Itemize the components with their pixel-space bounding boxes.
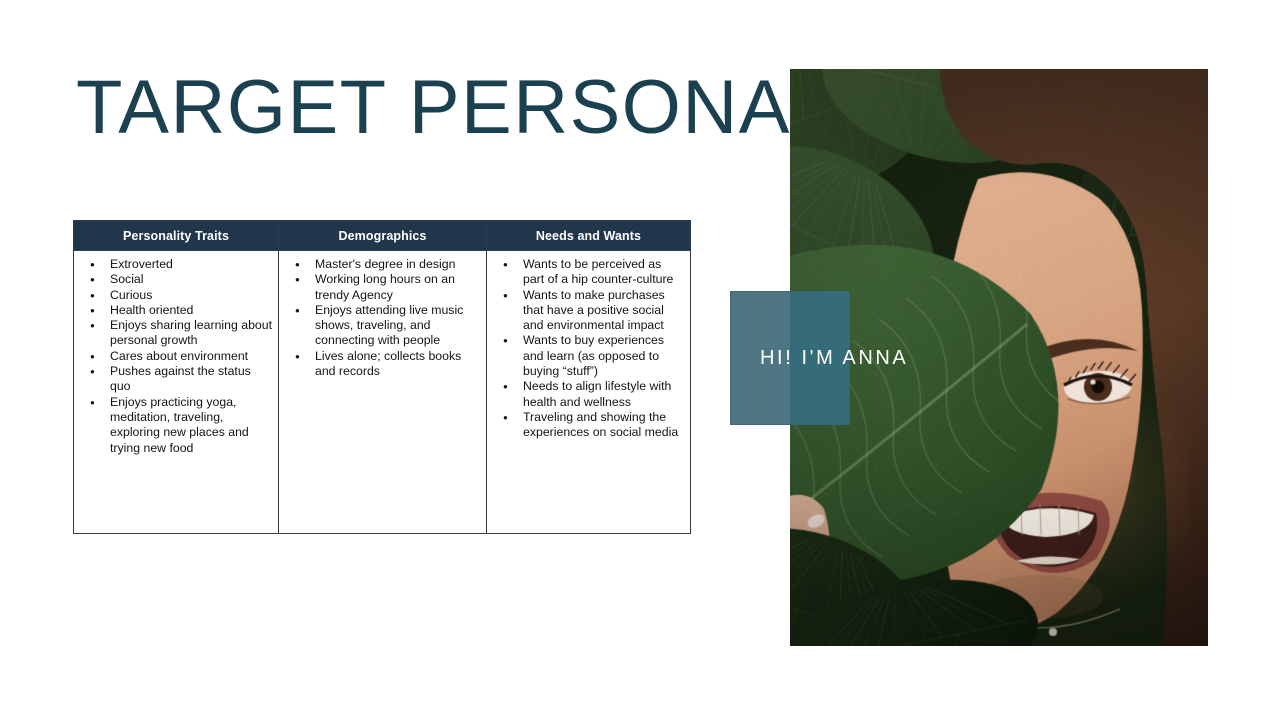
list-item: Enjoys sharing learning about personal g…: [106, 318, 272, 349]
list-item: Working long hours on an trendy Agency: [311, 272, 480, 303]
list-item: Social: [106, 272, 272, 287]
column-header-personality-traits: Personality Traits: [74, 221, 279, 251]
list-item: Traveling and showing the experiences on…: [519, 410, 684, 441]
list-item: Lives alone; collects books and records: [311, 349, 480, 380]
column-header-needs-and-wants: Needs and Wants: [487, 221, 691, 251]
list-item: Wants to buy experiences and learn (as o…: [519, 333, 684, 379]
slide-canvas: TARGET PERSONA Personality Traits Demogr…: [0, 0, 1280, 720]
list-item: Health oriented: [106, 303, 272, 318]
cell-personality-traits: Extroverted Social Curious Health orient…: [74, 251, 279, 534]
list-item: Enjoys practicing yoga, meditation, trav…: [106, 395, 272, 456]
page-title: TARGET PERSONA: [76, 66, 791, 150]
table-header-row: Personality Traits Demographics Needs an…: [74, 221, 691, 251]
persona-table: Personality Traits Demographics Needs an…: [73, 220, 691, 534]
list-item: Curious: [106, 288, 272, 303]
table-row: Extroverted Social Curious Health orient…: [74, 251, 691, 534]
anna-caption-label: HI! I'M ANNA: [730, 346, 1160, 370]
list-item: Enjoys attending live music shows, trave…: [311, 303, 480, 349]
list-item: Master's degree in design: [311, 257, 480, 272]
cell-demographics: Master's degree in design Working long h…: [279, 251, 487, 534]
demographics-list: Master's degree in design Working long h…: [285, 257, 480, 379]
cell-needs-and-wants: Wants to be perceived as part of a hip c…: [487, 251, 691, 534]
list-item: Wants to be perceived as part of a hip c…: [519, 257, 684, 288]
list-item: Extroverted: [106, 257, 272, 272]
list-item: Wants to make purchases that have a posi…: [519, 288, 684, 334]
list-item: Pushes against the status quo: [106, 364, 272, 395]
needs-and-wants-list: Wants to be perceived as part of a hip c…: [493, 257, 684, 441]
list-item: Cares about environment: [106, 349, 272, 364]
personality-traits-list: Extroverted Social Curious Health orient…: [80, 257, 272, 456]
column-header-demographics: Demographics: [279, 221, 487, 251]
list-item: Needs to align lifestyle with health and…: [519, 379, 684, 410]
